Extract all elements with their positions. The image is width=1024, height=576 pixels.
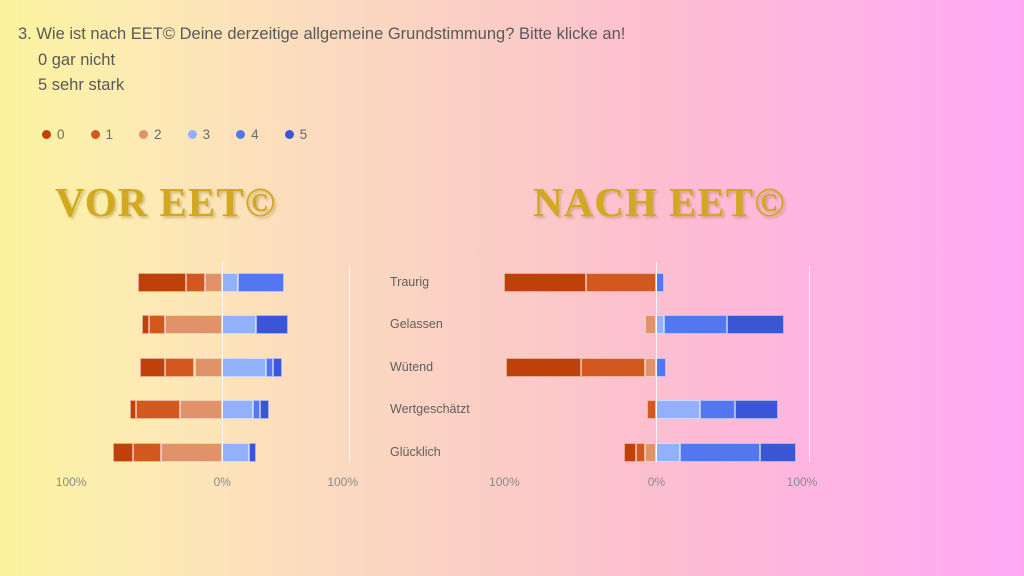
legend-dot-icon <box>91 130 100 139</box>
bar-segment[interactable] <box>133 443 161 462</box>
bar-segment[interactable] <box>586 273 656 292</box>
legend-item-4[interactable]: 4 <box>236 127 259 142</box>
legend-dot-icon <box>236 130 245 139</box>
bar-row <box>58 304 350 346</box>
legend-item-label: 1 <box>106 127 114 142</box>
bar-segment[interactable] <box>149 315 165 334</box>
legend-item-label: 5 <box>300 127 308 142</box>
bar-track <box>490 358 810 377</box>
bar-track <box>490 315 810 334</box>
question-line-3: 5 sehr stark <box>18 73 625 99</box>
plot-edge-line <box>809 266 810 462</box>
chart-panel-before <box>58 262 350 474</box>
bar-segment[interactable] <box>680 443 760 462</box>
chart-legend: 012345 <box>42 127 307 142</box>
plot-edge-line <box>349 266 350 462</box>
bar-segment[interactable] <box>186 273 205 292</box>
bar-track <box>58 400 350 419</box>
bar-segment[interactable] <box>656 400 699 419</box>
bar-segment[interactable] <box>256 315 288 334</box>
bar-row <box>490 432 810 474</box>
bar-segment[interactable] <box>138 273 186 292</box>
bar-row <box>490 304 810 346</box>
bar-row <box>58 432 350 474</box>
bar-segment[interactable] <box>656 273 664 292</box>
category-label: Wertgeschätzt <box>390 400 470 419</box>
bar-track <box>58 443 350 462</box>
zero-axis-line <box>656 262 657 462</box>
bar-row <box>58 347 350 389</box>
bar-segment[interactable] <box>205 273 223 292</box>
bar-segment[interactable] <box>222 315 256 334</box>
bar-segment[interactable] <box>624 443 635 462</box>
bar-segment[interactable] <box>222 400 253 419</box>
bar-segment[interactable] <box>140 358 165 377</box>
question-line-1: 3. Wie ist nach EET© Deine derzeitige al… <box>18 22 625 48</box>
bar-segment[interactable] <box>195 358 223 377</box>
bar-row <box>490 347 810 389</box>
legend-dot-icon <box>188 130 197 139</box>
bar-segment[interactable] <box>727 315 785 334</box>
category-label: Glücklich <box>390 443 441 462</box>
bar-track <box>58 273 350 292</box>
category-label: Traurig <box>390 273 429 292</box>
bar-segment[interactable] <box>656 315 664 334</box>
bar-segment[interactable] <box>645 358 656 377</box>
bar-segment[interactable] <box>222 443 248 462</box>
axis-tick-label: 100% <box>327 475 358 489</box>
legend-item-3[interactable]: 3 <box>188 127 211 142</box>
bar-segment[interactable] <box>760 443 795 462</box>
bar-rows-after <box>490 262 810 474</box>
bar-segment[interactable] <box>735 400 778 419</box>
bar-track <box>490 400 810 419</box>
bar-segment[interactable] <box>656 443 680 462</box>
legend-item-label: 2 <box>154 127 162 142</box>
legend-item-2[interactable]: 2 <box>139 127 162 142</box>
bar-segment[interactable] <box>581 358 645 377</box>
bar-row <box>490 262 810 304</box>
bar-row <box>490 389 810 431</box>
bar-segment[interactable] <box>222 273 238 292</box>
category-label: Wütend <box>390 358 433 377</box>
axis-tick-label: 100% <box>56 475 87 489</box>
question-line-2: 0 gar nicht <box>18 48 625 74</box>
legend-item-label: 0 <box>57 127 65 142</box>
bar-segment[interactable] <box>645 315 656 334</box>
bar-segment[interactable] <box>260 400 269 419</box>
category-label: Gelassen <box>390 315 443 334</box>
bar-segment[interactable] <box>664 315 726 334</box>
legend-item-label: 3 <box>203 127 211 142</box>
legend-item-0[interactable]: 0 <box>42 127 65 142</box>
x-axis-before: 100%0%100% <box>58 475 350 491</box>
bar-row <box>58 262 350 304</box>
chart-panel-after <box>490 262 810 474</box>
bar-segment[interactable] <box>165 358 194 377</box>
legend-item-1[interactable]: 1 <box>91 127 114 142</box>
bar-segment[interactable] <box>113 443 133 462</box>
question-block: 3. Wie ist nach EET© Deine derzeitige al… <box>18 22 625 99</box>
legend-dot-icon <box>139 130 148 139</box>
axis-tick-label: 100% <box>787 475 818 489</box>
bar-segment[interactable] <box>647 400 657 419</box>
legend-item-5[interactable]: 5 <box>285 127 308 142</box>
bar-segment[interactable] <box>238 273 283 292</box>
bar-segment[interactable] <box>222 358 266 377</box>
bar-segment[interactable] <box>165 315 222 334</box>
bar-track <box>58 358 350 377</box>
legend-dot-icon <box>42 130 51 139</box>
bar-segment[interactable] <box>273 358 282 377</box>
chart-title-after: NACH EET© <box>533 178 786 226</box>
bar-segment[interactable] <box>504 273 586 292</box>
bar-segment[interactable] <box>253 400 260 419</box>
bar-segment[interactable] <box>656 358 666 377</box>
bar-segment[interactable] <box>700 400 735 419</box>
axis-tick-label: 0% <box>648 475 665 489</box>
bar-track <box>58 315 350 334</box>
chart-title-before: VOR EET© <box>55 178 276 226</box>
bar-track <box>490 273 810 292</box>
bar-segment[interactable] <box>506 358 581 377</box>
legend-dot-icon <box>285 130 294 139</box>
bar-row <box>58 389 350 431</box>
bar-segment[interactable] <box>180 400 222 419</box>
bar-segment[interactable] <box>645 443 656 462</box>
bar-segment[interactable] <box>136 400 180 419</box>
axis-tick-label: 0% <box>214 475 231 489</box>
bar-segment[interactable] <box>636 443 646 462</box>
bar-segment[interactable] <box>130 400 136 419</box>
bar-segment[interactable] <box>249 443 256 462</box>
bar-segment[interactable] <box>161 443 222 462</box>
bar-track <box>490 443 810 462</box>
bar-segment[interactable] <box>142 315 149 334</box>
x-axis-after: 100%0%100% <box>490 475 810 491</box>
axis-tick-label: 100% <box>489 475 520 489</box>
legend-item-label: 4 <box>251 127 259 142</box>
bar-segment[interactable] <box>266 358 273 377</box>
category-label-column: TraurigGelassenWütendWertgeschätztGlückl… <box>390 262 490 474</box>
zero-axis-line <box>222 262 223 462</box>
bar-rows-before <box>58 262 350 474</box>
